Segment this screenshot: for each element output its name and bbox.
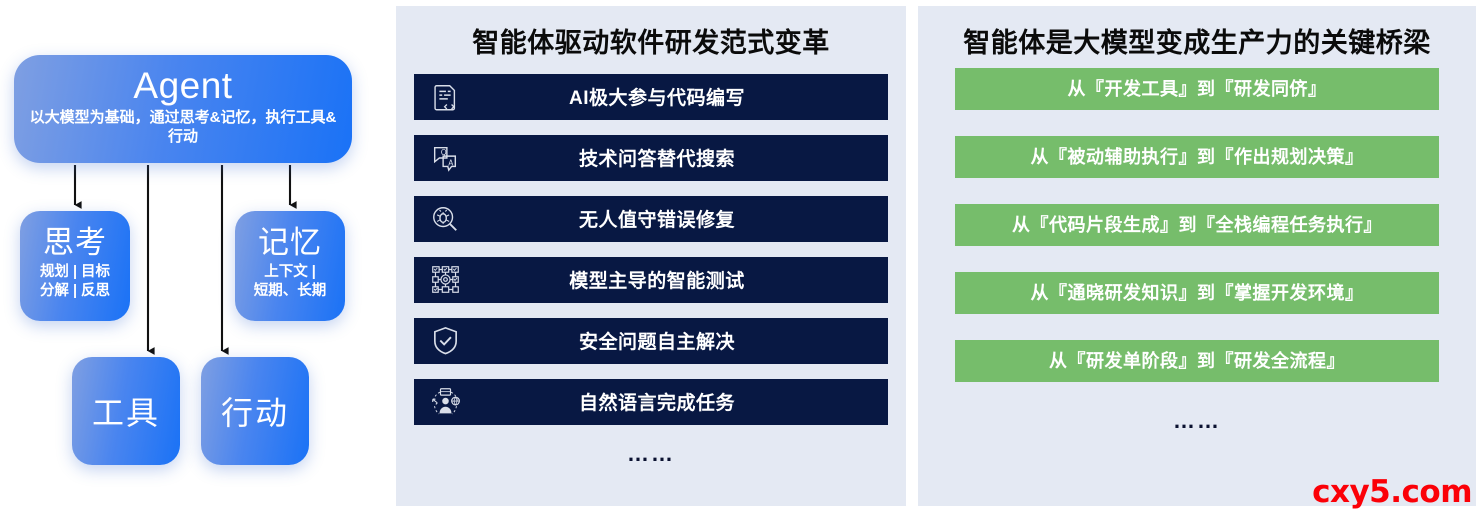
paradigm-shift-list: AI极大参与代码编写 Q A 技术问答替代搜索 — [396, 74, 906, 425]
list-item[interactable]: 安全问题自主解决 — [414, 318, 888, 364]
bridge-panel: 智能体是大模型变成生产力的关键桥梁 从『开发工具』到『研发同侪』 从『被动辅助执… — [918, 6, 1476, 506]
memory-node[interactable]: 记忆 上下文 | 短期、长期 — [235, 211, 345, 321]
svg-text:A: A — [448, 158, 454, 167]
list-item-label: 从『开发工具』到『研发同侪』 — [1068, 78, 1327, 101]
memory-node-title: 记忆 — [258, 227, 322, 260]
think-sub-line-2: 分解 | 反思 — [40, 282, 110, 301]
bridge-panel-title: 智能体是大模型变成生产力的关键桥梁 — [918, 6, 1476, 60]
list-item-label: 无人值守错误修复 — [476, 205, 888, 232]
paradigm-shift-panel: 智能体驱动软件研发范式变革 AI极大参与代码编写 Q — [396, 6, 906, 506]
list-item-label: 从『被动辅助执行』到『作出规划决策』 — [1031, 146, 1364, 169]
paradigm-shift-ellipsis: …… — [396, 441, 906, 467]
list-item[interactable]: 模型主导的智能测试 — [414, 257, 888, 303]
list-item[interactable]: AI极大参与代码编写 — [414, 74, 888, 120]
code-document-icon — [414, 82, 476, 112]
think-node-subtitle: 规划 | 目标 分解 | 反思 — [40, 263, 110, 301]
shield-check-icon — [414, 325, 476, 356]
list-item[interactable]: 从『开发工具』到『研发同侪』 — [955, 68, 1439, 110]
bug-magnifier-icon — [414, 204, 476, 234]
list-item[interactable]: 从『被动辅助执行』到『作出规划决策』 — [955, 136, 1439, 178]
action-node-title: 行动 — [221, 388, 289, 434]
list-item-label: 自然语言完成任务 — [476, 388, 888, 415]
agent-node-title: Agent — [133, 67, 232, 105]
svg-text:Q: Q — [441, 148, 447, 157]
think-node-title: 思考 — [43, 227, 107, 260]
memory-sub-line-1: 上下文 | — [254, 263, 327, 282]
list-item[interactable]: 从『通晓研发知识』到『掌握开发环境』 — [955, 272, 1439, 314]
list-item-label: 模型主导的智能测试 — [476, 266, 888, 293]
agent-node[interactable]: Agent 以大模型为基础，通过思考&记忆，执行工具&行动 — [14, 55, 352, 163]
bridge-list: 从『开发工具』到『研发同侪』 从『被动辅助执行』到『作出规划决策』 从『代码片段… — [918, 68, 1476, 382]
think-sub-line-1: 规划 | 目标 — [40, 263, 110, 282]
tool-node-title: 工具 — [92, 388, 160, 434]
list-item-label: 从『通晓研发知识』到『掌握开发环境』 — [1031, 282, 1364, 305]
think-node[interactable]: 思考 规划 | 目标 分解 | 反思 — [20, 211, 130, 321]
test-network-icon — [414, 264, 476, 295]
paradigm-shift-title: 智能体驱动软件研发范式变革 — [396, 6, 906, 60]
list-item[interactable]: 从『研发单阶段』到『研发全流程』 — [955, 340, 1439, 382]
watermark: cxy5.com — [1312, 474, 1472, 510]
list-item[interactable]: 自然语言完成任务 — [414, 379, 888, 425]
list-item-label: 从『研发单阶段』到『研发全流程』 — [1049, 350, 1345, 373]
action-node[interactable]: 行动 — [201, 357, 309, 465]
list-item-label: 从『代码片段生成』到『全栈编程任务执行』 — [1012, 214, 1382, 237]
list-item-label: 安全问题自主解决 — [476, 327, 888, 354]
agent-node-subtitle: 以大模型为基础，通过思考&记忆，执行工具&行动 — [28, 108, 338, 146]
list-item-label: AI极大参与代码编写 — [476, 83, 888, 110]
memory-node-subtitle: 上下文 | 短期、长期 — [254, 263, 327, 301]
slide-canvas: Agent 以大模型为基础，通过思考&记忆，执行工具&行动 思考 规划 | 目标… — [0, 0, 1476, 512]
list-item[interactable]: Q A 技术问答替代搜索 — [414, 135, 888, 181]
tool-node[interactable]: 工具 — [72, 357, 180, 465]
list-item-label: 技术问答替代搜索 — [476, 144, 888, 171]
memory-sub-line-2: 短期、长期 — [254, 282, 327, 301]
list-item[interactable]: 从『代码片段生成』到『全栈编程任务执行』 — [955, 204, 1439, 246]
list-item[interactable]: 无人值守错误修复 — [414, 196, 888, 242]
person-network-icon — [414, 386, 476, 417]
agent-diagram-panel: Agent 以大模型为基础，通过思考&记忆，执行工具&行动 思考 规划 | 目标… — [0, 0, 390, 512]
question-answer-icon: Q A — [414, 143, 476, 173]
bridge-ellipsis: …… — [918, 408, 1476, 434]
